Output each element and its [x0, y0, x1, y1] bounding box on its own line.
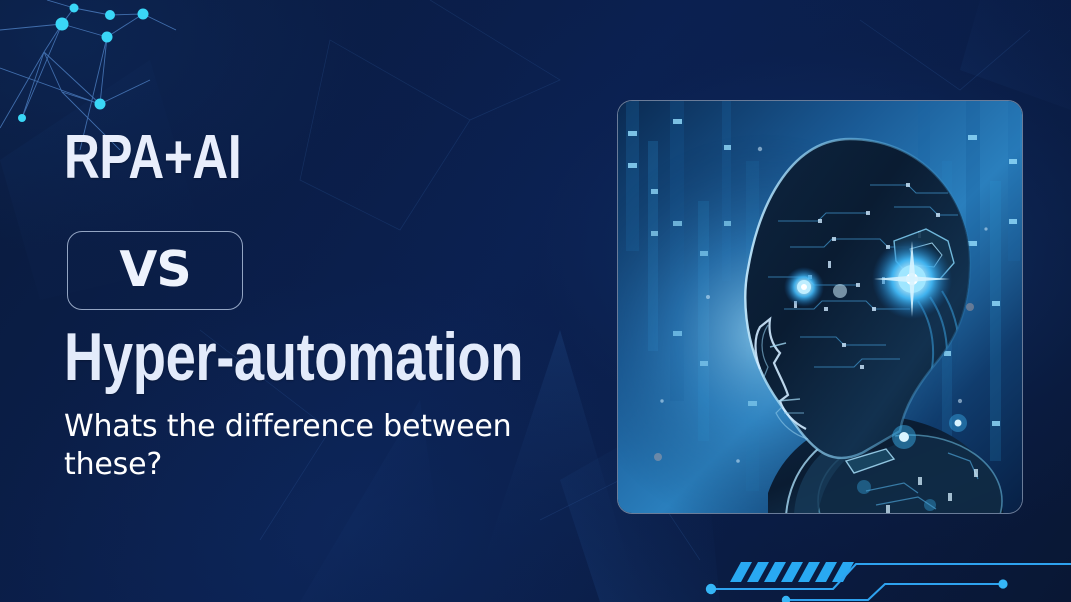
versus-badge: VS: [67, 231, 243, 310]
hud-dot-icon: [998, 579, 1007, 588]
hud-dot-icon: [706, 584, 716, 594]
circuit-line-icon: [712, 564, 1071, 600]
ai-humanoid-robot-image: [618, 101, 1023, 514]
network-node-icon: [18, 114, 26, 122]
robot-image-card: [617, 100, 1023, 514]
presentation-slide: RPA+AI VS Hyper-automation Whats the dif…: [0, 0, 1071, 602]
subtitle: Whats the difference between these?: [64, 408, 544, 485]
network-node-icon: [70, 4, 79, 13]
kicker-title: RPA+AI: [64, 128, 241, 188]
hud-dot-icon: [782, 596, 790, 602]
hud-bars-icon: [730, 562, 854, 582]
network-node-icon: [95, 99, 106, 110]
hud-circuit-graphic: [700, 548, 1071, 602]
page-title: Hyper-automation: [64, 325, 523, 390]
network-node-icon: [102, 32, 113, 43]
network-node-icon: [105, 10, 115, 20]
network-node-icon: [138, 9, 149, 20]
versus-label: VS: [119, 245, 190, 294]
network-node-icon: [56, 18, 69, 31]
